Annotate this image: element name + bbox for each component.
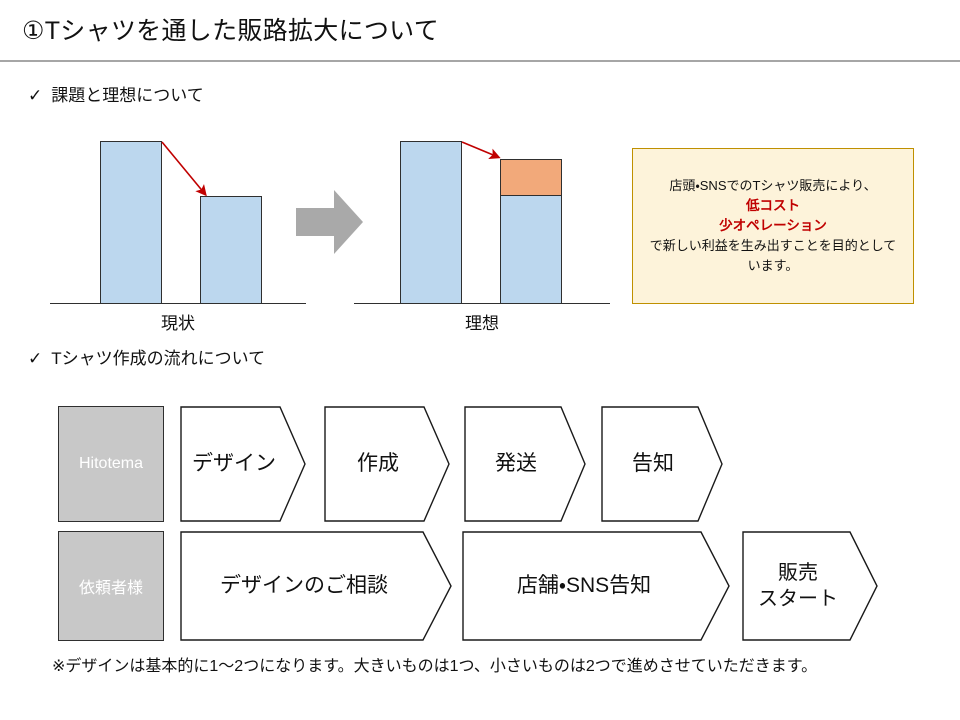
- chart-baseline: [50, 303, 306, 304]
- chevron-shape: [180, 406, 306, 522]
- chevron-shape: [464, 406, 586, 522]
- flow-step-design[interactable]: デザイン: [180, 406, 306, 522]
- chevron-shape: [180, 531, 452, 641]
- section-heading-issues-label: 課題と理想について: [51, 86, 204, 105]
- chevron-shape: [742, 531, 878, 641]
- callout-emphasis-2: 少オペレーション: [719, 216, 827, 236]
- check-icon: ✓: [28, 85, 42, 107]
- chart-ideal-label: 理想: [348, 313, 616, 335]
- callout-emphasis-1: 低コスト: [746, 196, 800, 216]
- flow-step-ship[interactable]: 発送: [464, 406, 586, 522]
- chart-current-label: 現状: [44, 313, 312, 335]
- bar-ideal-new-profit: [500, 159, 562, 196]
- section-heading-flow: ✓Tシャツ作成の流れについて: [28, 348, 265, 370]
- role-label-hitotema: Hitotema: [58, 406, 164, 522]
- chevron-shape: [324, 406, 450, 522]
- flow-step-make[interactable]: 作成: [324, 406, 450, 522]
- bar-ideal-baseline: [400, 141, 462, 304]
- decline-arrow-ideal: [348, 140, 616, 335]
- flow-step-sales-start[interactable]: 販売 スタート: [742, 531, 878, 641]
- slide-canvas: ①Tシャツを通した販路拡大について ✓課題と理想について 現状: [0, 0, 960, 720]
- check-icon: ✓: [28, 348, 42, 370]
- section-heading-flow-label: Tシャツ作成の流れについて: [51, 349, 265, 368]
- footnote: ※デザインは基本的に1〜2つになります。大きいものは1つ、小さいものは2つで進め…: [52, 655, 817, 679]
- chevron-shape: [462, 531, 730, 641]
- flow-step-announce[interactable]: 店舗・SNS告知: [462, 531, 730, 641]
- bar-current-baseline: [100, 141, 162, 304]
- role-label-client: 依頼者様: [58, 531, 164, 641]
- bar-ideal-declined: [500, 196, 562, 304]
- flow-step-consult[interactable]: デザインのご相談: [180, 531, 452, 641]
- purpose-callout: 店頭・SNSでのTシャツ販売により、 低コスト 少オペレーション で新しい利益を…: [632, 148, 914, 304]
- decline-arrow-current: [44, 140, 312, 335]
- title-divider: [0, 60, 960, 62]
- chevron-shape: [601, 406, 723, 522]
- chart-baseline: [354, 303, 610, 304]
- bar-current-declined: [200, 196, 262, 304]
- chart-ideal-state: 理想: [348, 140, 616, 335]
- flow-step-notice[interactable]: 告知: [601, 406, 723, 522]
- section-heading-issues: ✓課題と理想について: [28, 85, 204, 107]
- callout-line-2: で新しい利益を生み出すことを目的としています。: [645, 236, 901, 276]
- page-title: ①Tシャツを通した販路拡大について: [22, 14, 439, 48]
- callout-line-1: 店頭・SNSでのTシャツ販売により、: [669, 176, 876, 196]
- chart-current-state: 現状: [44, 140, 312, 335]
